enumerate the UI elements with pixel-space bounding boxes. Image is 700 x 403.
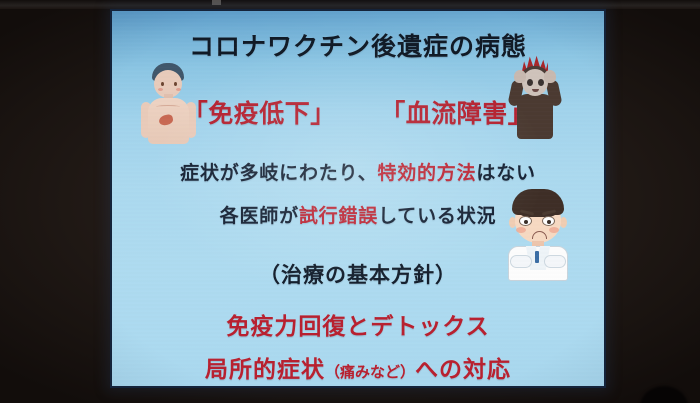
policy-item-1: 免疫力回復とデトックス [112,307,604,341]
slide-surface: コロナワクチン後遺症の病態 「免疫低下」 「血流障害」 症状が多岐にわたり、特効… [112,11,604,386]
collarbone-line [156,105,180,109]
pen-icon [535,251,539,263]
frown-mouth-shape [532,231,547,239]
arm-right [544,255,566,268]
ceiling-light-notch [212,0,221,5]
eye-right [174,82,177,86]
policy-item-2-main-b: への対応 [415,357,511,383]
statement-line-1: 症状が多岐にわたり、特効的方法はない [112,158,604,185]
blush-right [549,227,559,233]
person-clutching-head-icon [504,55,566,147]
hand-right [544,70,556,83]
policy-item-2-main-a: 局所的症状 [205,357,325,383]
statement-2-highlight: 試行錯誤 [299,205,378,227]
arm-left [510,255,532,268]
eye-right [538,79,544,86]
shirtless-man-icon [138,61,198,147]
slide-content: コロナワクチン後遺症の病態 「免疫低下」 「血流障害」 症状が多岐にわたり、特効… [112,11,604,386]
statement-1-highlight: 特効的方法 [377,162,476,184]
statement-2-text-b: している状況 [378,205,496,227]
torso-shape [517,94,553,139]
statement-1-text-a: 症状が多岐にわたり、 [180,162,377,184]
statement-2-text-a: 各医師が [220,205,299,227]
ear-right [560,217,567,228]
blush-left [158,88,163,91]
blush-right [176,88,181,91]
blush-left [516,227,526,233]
worried-doctor-icon [502,189,574,281]
projection-screen: コロナワクチン後遺症の病態 「免疫低下」 「血流障害」 症状が多岐にわたり、特効… [110,9,606,388]
ceiling-strip [0,0,700,9]
keyword-immune: 「免疫低下」 [183,99,336,128]
pupil-right [547,220,551,224]
policy-item-2-note: （痛みなど） [325,363,415,381]
eye-left [527,79,533,86]
policy-item-2: 局所的症状（痛みなど）への対応 [112,350,604,384]
statement-1-text-b: はない [476,162,535,184]
pupil-left [524,220,528,224]
eye-left [161,82,164,86]
projected-slide-photo: コロナワクチン後遺症の病態 「免疫低下」 「血流障害」 症状が多岐にわたり、特効… [0,0,700,403]
hand-left [514,70,526,83]
